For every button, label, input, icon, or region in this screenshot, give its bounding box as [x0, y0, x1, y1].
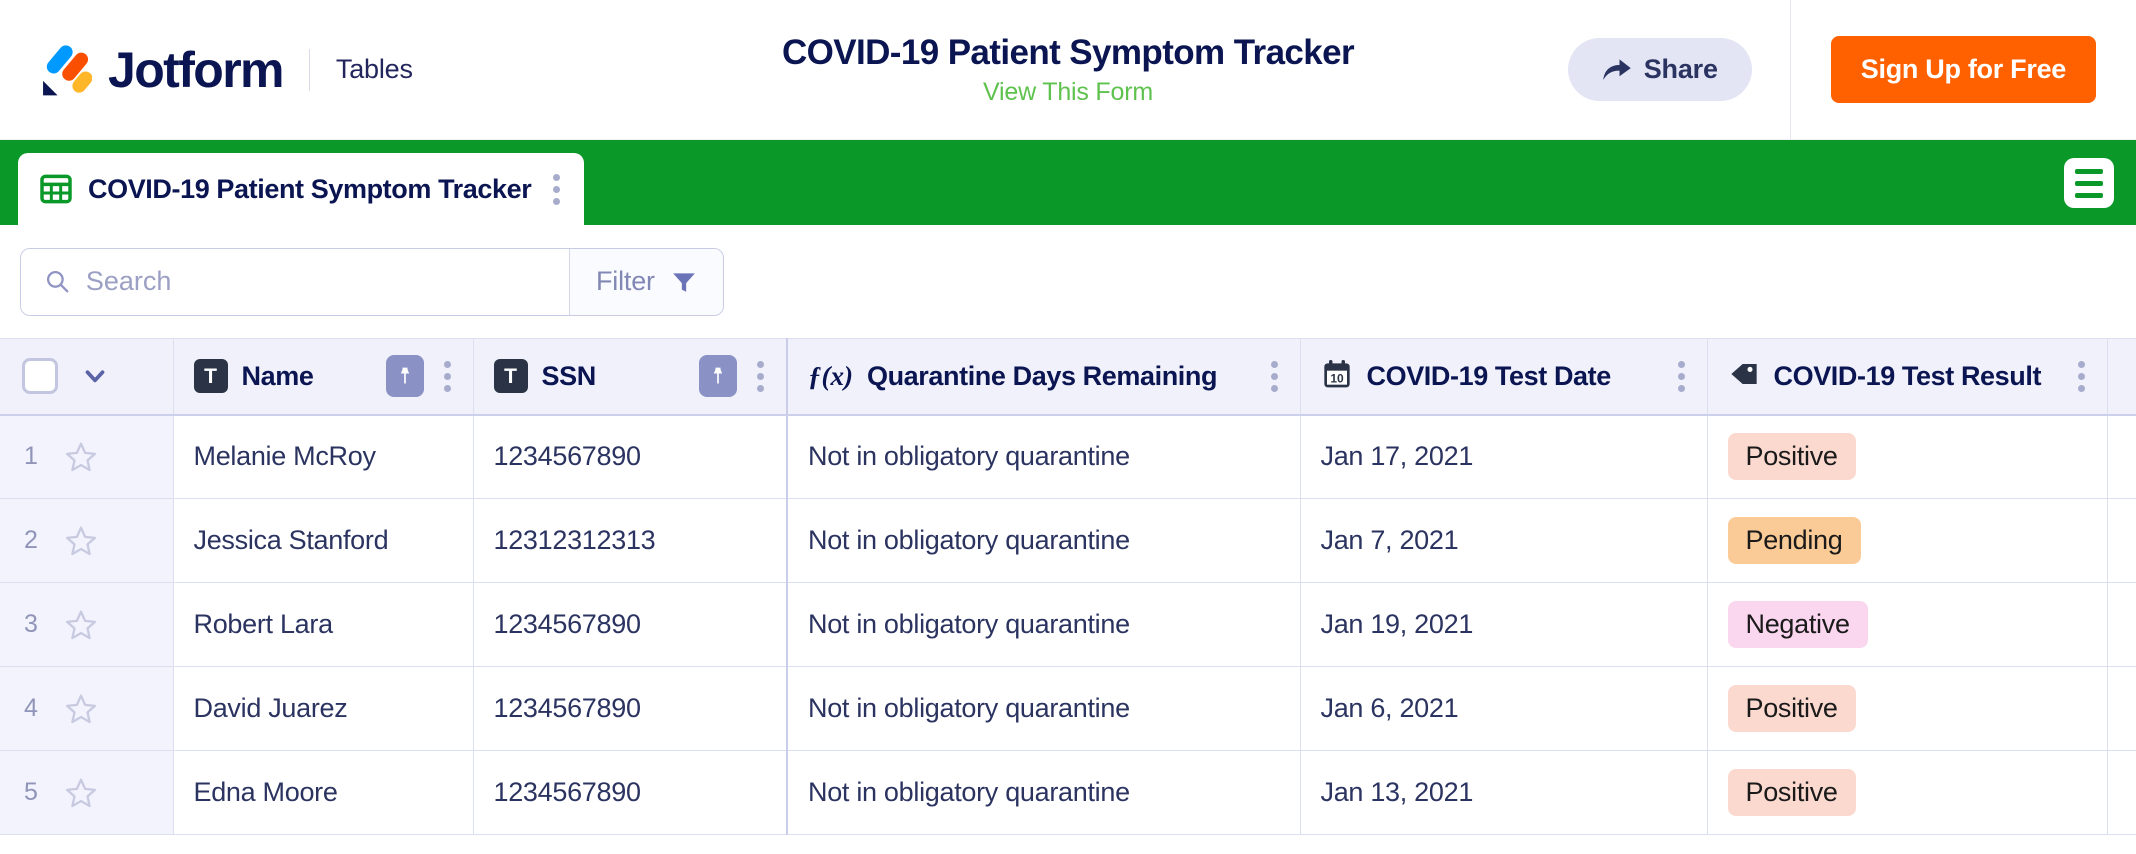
cell-name[interactable]: Melanie McRoy	[173, 415, 473, 499]
row-header-cell[interactable]: 5	[0, 751, 173, 835]
sheet-tab-bar: COVID-19 Patient Symptom Tracker	[0, 140, 2136, 225]
cell-name[interactable]: Robert Lara	[173, 583, 473, 667]
cell-value: Jan 7, 2021	[1301, 525, 1707, 556]
table-row[interactable]: 3Robert Lara1234567890Not in obligatory …	[0, 583, 2136, 667]
calendar-type-icon: 10	[1321, 358, 1353, 395]
search-icon	[45, 268, 70, 295]
column-header-quarantine-days-remaining[interactable]: ƒ(x) Quarantine Days Remaining	[787, 339, 1300, 415]
cell-test-date[interactable]: Jan 6, 2021	[1300, 667, 1707, 751]
star-icon[interactable]	[64, 440, 98, 474]
cell-ssn[interactable]: 12312312313	[473, 499, 787, 583]
page-title: COVID-19 Patient Symptom Tracker	[782, 33, 1354, 73]
row-number: 1	[24, 442, 44, 471]
cell-ssn[interactable]: 1234567890	[473, 415, 787, 499]
cell-test-date[interactable]: Jan 17, 2021	[1300, 415, 1707, 499]
column-menu-icon[interactable]	[751, 357, 770, 396]
cell-value: Jan 6, 2021	[1301, 693, 1707, 724]
pin-icon[interactable]	[699, 355, 737, 397]
status-badge: Pending	[1728, 517, 1861, 564]
funnel-icon	[671, 269, 697, 295]
signup-button[interactable]: Sign Up for Free	[1831, 36, 2096, 103]
brand-divider	[309, 49, 310, 91]
cell-ssn[interactable]: 1234567890	[473, 583, 787, 667]
data-table: T Name T SSN	[0, 338, 2136, 835]
row-number: 3	[24, 610, 44, 639]
select-all-header[interactable]	[0, 339, 173, 415]
row-number: 2	[24, 526, 44, 555]
table-grid-icon	[40, 173, 72, 205]
search-input[interactable]	[86, 266, 569, 297]
column-header-label: COVID-19 Test Result	[1774, 361, 2058, 392]
row-header-cell[interactable]: 4	[0, 667, 173, 751]
share-arrow-icon	[1602, 57, 1632, 83]
cell-test-result[interactable]: Positive	[1707, 667, 2107, 751]
cell-value: 1234567890	[474, 441, 787, 472]
cell-trailing[interactable]	[2107, 499, 2136, 583]
row-header-cell[interactable]: 3	[0, 583, 173, 667]
cell-name[interactable]: Edna Moore	[173, 751, 473, 835]
table-toolbar: Filter	[0, 225, 2136, 338]
cell-test-result[interactable]: Pending	[1707, 499, 2107, 583]
cell-trailing[interactable]	[2107, 667, 2136, 751]
column-header-trailing[interactable]	[2107, 339, 2136, 415]
cell-value: Not in obligatory quarantine	[788, 693, 1300, 724]
cell-value: Jan 19, 2021	[1301, 609, 1707, 640]
select-all-checkbox[interactable]	[22, 358, 58, 394]
cell-value: Jan 13, 2021	[1301, 777, 1707, 808]
status-badge: Positive	[1728, 769, 1856, 816]
cell-test-date[interactable]: Jan 13, 2021	[1300, 751, 1707, 835]
cell-value: Robert Lara	[174, 609, 473, 640]
cell-test-result[interactable]: Positive	[1707, 751, 2107, 835]
column-header-name[interactable]: T Name	[173, 339, 473, 415]
chevron-down-icon[interactable]	[80, 361, 110, 391]
cell-value: Not in obligatory quarantine	[788, 441, 1300, 472]
cell-value: Not in obligatory quarantine	[788, 609, 1300, 640]
cell-value: 12312312313	[474, 525, 787, 556]
column-header-covid-test-date[interactable]: 10 COVID-19 Test Date	[1300, 339, 1707, 415]
cell-value: Jessica Stanford	[174, 525, 473, 556]
sheet-tab-active[interactable]: COVID-19 Patient Symptom Tracker	[18, 153, 584, 225]
cell-value: Melanie McRoy	[174, 441, 473, 472]
star-icon[interactable]	[64, 524, 98, 558]
cell-trailing[interactable]	[2107, 751, 2136, 835]
cell-value: Not in obligatory quarantine	[788, 525, 1300, 556]
table-header-row: T Name T SSN	[0, 339, 2136, 415]
sheet-tab-menu-icon[interactable]	[547, 170, 566, 209]
cell-name[interactable]: Jessica Stanford	[173, 499, 473, 583]
header-divider	[1790, 0, 1791, 140]
cell-quarantine[interactable]: Not in obligatory quarantine	[787, 667, 1300, 751]
cell-value: Jan 17, 2021	[1301, 441, 1707, 472]
share-button-label: Share	[1644, 54, 1718, 85]
cell-value: 1234567890	[474, 693, 787, 724]
search-filter-group: Filter	[20, 248, 724, 316]
column-header-ssn[interactable]: T SSN	[473, 339, 787, 415]
star-icon[interactable]	[64, 692, 98, 726]
row-header-cell[interactable]: 1	[0, 415, 173, 499]
cell-test-result[interactable]: Negative	[1707, 583, 2107, 667]
cell-test-date[interactable]: Jan 19, 2021	[1300, 583, 1707, 667]
jotform-logo[interactable]: Jotform	[34, 41, 283, 99]
table-row[interactable]: 2Jessica Stanford12312312313Not in oblig…	[0, 499, 2136, 583]
column-header-covid-test-result[interactable]: COVID-19 Test Result	[1707, 339, 2107, 415]
cell-quarantine[interactable]: Not in obligatory quarantine	[787, 499, 1300, 583]
jotform-wordmark: Jotform	[108, 45, 283, 95]
table-body: 1Melanie McRoy1234567890Not in obligator…	[0, 415, 2136, 835]
cell-test-date[interactable]: Jan 7, 2021	[1300, 499, 1707, 583]
column-header-label: COVID-19 Test Date	[1367, 361, 1658, 392]
cell-trailing[interactable]	[2107, 583, 2136, 667]
table-row[interactable]: 1Melanie McRoy1234567890Not in obligator…	[0, 415, 2136, 499]
text-type-icon: T	[494, 359, 528, 393]
column-menu-icon[interactable]	[438, 357, 457, 396]
cell-value: 1234567890	[474, 609, 787, 640]
svg-text:10: 10	[1330, 371, 1344, 385]
tag-type-icon	[1728, 358, 1760, 395]
column-header-label: Name	[242, 361, 372, 392]
cell-name[interactable]: David Juarez	[173, 667, 473, 751]
status-badge: Positive	[1728, 685, 1856, 732]
product-label[interactable]: Tables	[336, 54, 413, 85]
top-header: Jotform Tables COVID-19 Patient Symptom …	[0, 0, 2136, 140]
cell-trailing[interactable]	[2107, 415, 2136, 499]
view-this-form-link[interactable]: View This Form	[983, 78, 1153, 107]
table-row[interactable]: 5Edna Moore1234567890Not in obligatory q…	[0, 751, 2136, 835]
header-actions: Share Sign Up for Free	[1568, 0, 2136, 139]
filter-button-label: Filter	[596, 266, 655, 297]
cell-quarantine[interactable]: Not in obligatory quarantine	[787, 751, 1300, 835]
cell-ssn[interactable]: 1234567890	[473, 667, 787, 751]
cell-quarantine[interactable]: Not in obligatory quarantine	[787, 583, 1300, 667]
star-icon[interactable]	[64, 776, 98, 810]
column-header-label: Quarantine Days Remaining	[867, 361, 1251, 392]
filter-button[interactable]: Filter	[569, 249, 723, 315]
cell-value: 1234567890	[474, 777, 787, 808]
column-header-label: SSN	[542, 361, 686, 392]
column-menu-icon[interactable]	[1265, 357, 1284, 396]
column-menu-icon[interactable]	[1672, 357, 1691, 396]
hamburger-menu-icon[interactable]	[2064, 158, 2114, 208]
row-header-cell[interactable]: 2	[0, 499, 173, 583]
pin-icon[interactable]	[386, 355, 424, 397]
sheet-tab-label: COVID-19 Patient Symptom Tracker	[88, 174, 531, 205]
share-button[interactable]: Share	[1568, 38, 1752, 101]
cell-quarantine[interactable]: Not in obligatory quarantine	[787, 415, 1300, 499]
table-row[interactable]: 4David Juarez1234567890Not in obligatory…	[0, 667, 2136, 751]
search-field[interactable]	[21, 249, 569, 315]
cell-value: David Juarez	[174, 693, 473, 724]
brand-zone: Jotform Tables	[0, 41, 413, 99]
jotform-mark-icon	[34, 41, 92, 99]
column-menu-icon[interactable]	[2072, 357, 2091, 396]
cell-ssn[interactable]: 1234567890	[473, 751, 787, 835]
cell-test-result[interactable]: Positive	[1707, 415, 2107, 499]
formula-type-icon: ƒ(x)	[808, 361, 853, 392]
cell-value: Not in obligatory quarantine	[788, 777, 1300, 808]
status-badge: Positive	[1728, 433, 1856, 480]
cell-value: Edna Moore	[174, 777, 473, 808]
status-badge: Negative	[1728, 601, 1868, 648]
row-number: 5	[24, 778, 44, 807]
star-icon[interactable]	[64, 608, 98, 642]
row-number: 4	[24, 694, 44, 723]
text-type-icon: T	[194, 359, 228, 393]
data-table-container[interactable]: T Name T SSN	[0, 338, 2136, 835]
